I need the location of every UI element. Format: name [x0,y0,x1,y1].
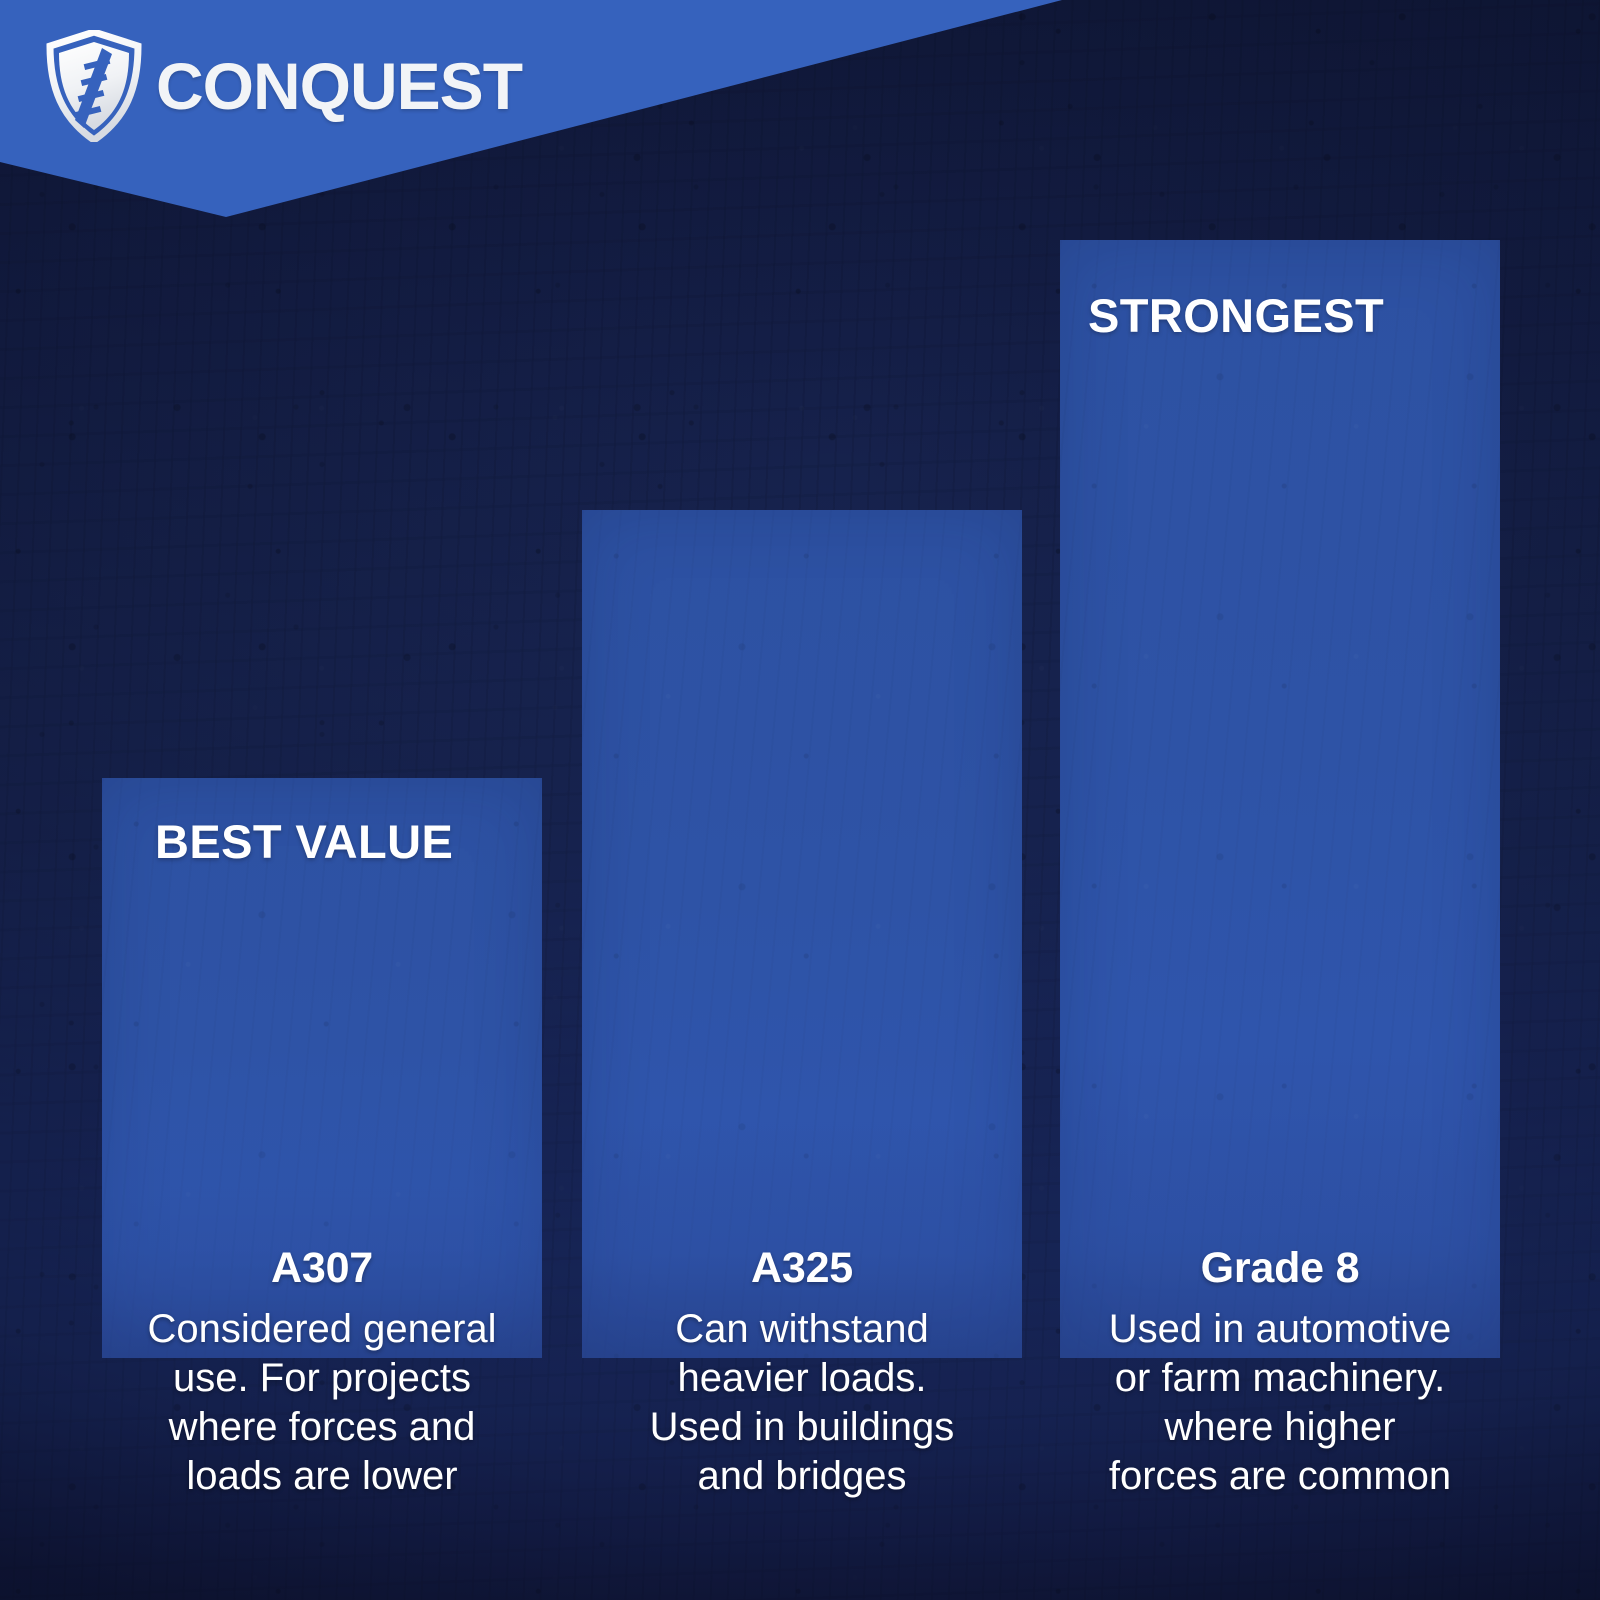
badge-best-value: BEST VALUE [155,818,453,865]
caption-body-a325: Can withstand heavier loads. Used in bui… [576,1305,1028,1500]
caption-body-grade8: Used in automotive or farm machinery. wh… [1048,1305,1512,1500]
caption-title-a307: A307 [96,1246,548,1291]
caption-a307: A307 Considered general use. For project… [96,1246,548,1500]
bar-grade8[interactable] [1060,240,1500,1358]
caption-a325: A325 Can withstand heavier loads. Used i… [576,1246,1028,1500]
caption-title-a325: A325 [576,1246,1028,1291]
bar-a325[interactable] [582,510,1022,1358]
caption-body-a307: Considered general use. For projects whe… [96,1305,548,1500]
caption-grade8: Grade 8 Used in automotive or farm machi… [1048,1246,1512,1500]
infographic-canvas: CONQUEST BEST VALUE STRONGEST A307 Consi… [0,0,1600,1600]
badge-strongest: STRONGEST [1088,292,1384,339]
caption-title-grade8: Grade 8 [1048,1246,1512,1291]
